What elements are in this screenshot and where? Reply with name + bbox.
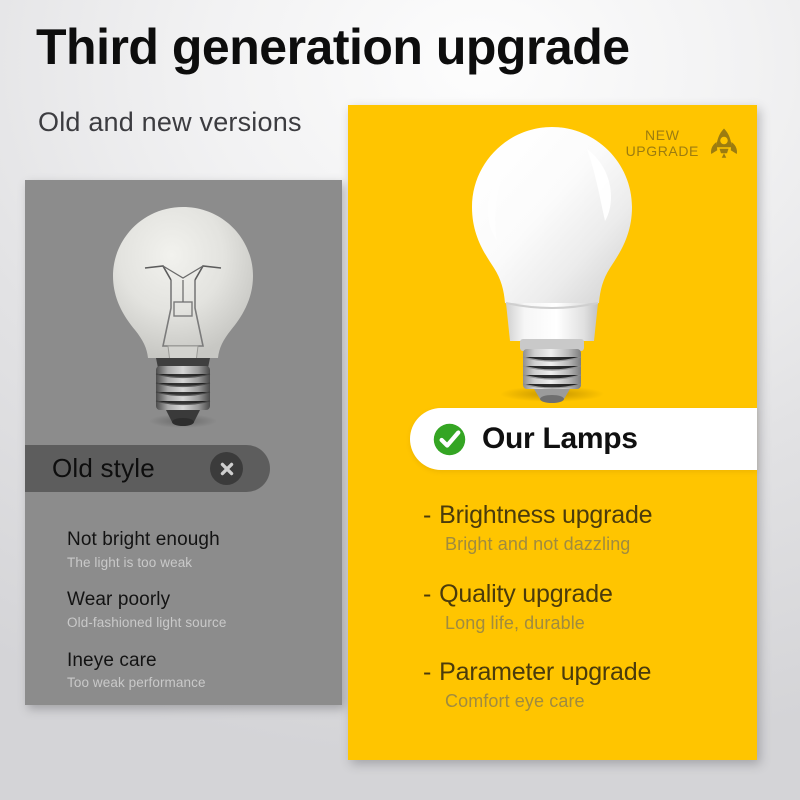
our-lamps-bar: Our Lamps <box>410 408 757 470</box>
list-item-subtitle: Long life, durable <box>445 612 743 635</box>
list-item: -Brightness upgrade Bright and not dazzl… <box>423 500 743 556</box>
list-item-subtitle: Too weak performance <box>67 674 327 692</box>
list-item-title-text: Brightness upgrade <box>439 501 652 529</box>
list-item-subtitle: The light is too weak <box>67 554 327 572</box>
list-item-dash: - <box>423 580 431 608</box>
page-title: Third generation upgrade <box>36 20 630 74</box>
old-version-panel: Old style Not bright enough The light is… <box>25 180 342 705</box>
list-item-subtitle: Bright and not dazzling <box>445 533 743 556</box>
list-item-title-text: Quality upgrade <box>439 580 613 608</box>
list-item-title: -Quality upgrade <box>423 579 743 609</box>
list-item-title-text: Parameter upgrade <box>439 658 651 686</box>
old-style-label: Old style <box>52 453 155 484</box>
list-item-subtitle: Old-fashioned light source <box>67 614 327 632</box>
list-item-dash: - <box>423 501 431 529</box>
list-item-dash: - <box>423 658 431 686</box>
old-drawbacks-list: Not bright enough The light is too weak … <box>67 528 327 709</box>
page-subtitle: Old and new versions <box>38 107 302 138</box>
list-item: Ineye care Too weak performance <box>67 649 327 692</box>
list-item: -Parameter upgrade Comfort eye care <box>423 657 743 713</box>
incandescent-bulb-icon <box>25 190 342 445</box>
list-item-title: -Parameter upgrade <box>423 657 743 687</box>
x-mark-icon <box>210 452 243 485</box>
list-item-title: Wear poorly <box>67 588 327 612</box>
check-circle-icon <box>431 421 468 458</box>
list-item: -Quality upgrade Long life, durable <box>423 579 743 635</box>
old-style-badge: Old style <box>25 445 270 492</box>
our-lamps-label: Our Lamps <box>482 422 638 456</box>
new-benefits-list: -Brightness upgrade Bright and not dazzl… <box>423 500 743 736</box>
list-item: Wear poorly Old-fashioned light source <box>67 588 327 631</box>
list-item-subtitle: Comfort eye care <box>445 690 743 713</box>
new-version-panel: NEW UPGRADE <box>348 105 757 760</box>
list-item: Not bright enough The light is too weak <box>67 528 327 571</box>
list-item-title: -Brightness upgrade <box>423 500 743 530</box>
list-item-title: Not bright enough <box>67 528 327 552</box>
comparison-poster: Third generation upgrade Old and new ver… <box>0 0 800 800</box>
led-bulb-icon <box>348 113 757 403</box>
list-item-title: Ineye care <box>67 649 327 673</box>
